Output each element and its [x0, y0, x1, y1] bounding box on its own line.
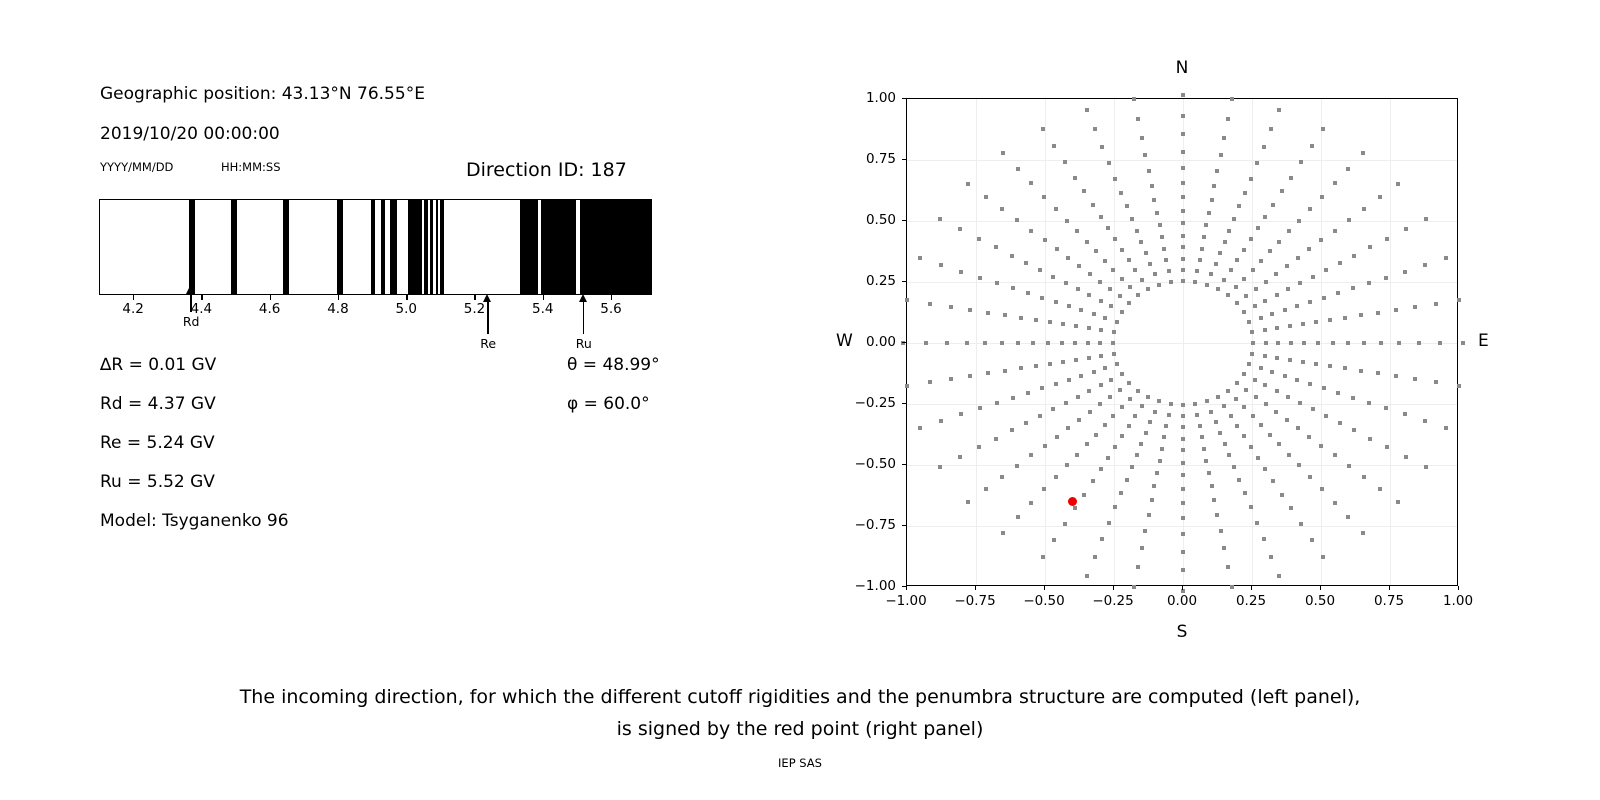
direction-point: [1229, 414, 1233, 418]
direction-point: [1043, 238, 1047, 242]
direction-point: [1319, 238, 1323, 242]
x-axis-tick: [906, 586, 907, 590]
direction-point: [1061, 322, 1065, 326]
direction-point: [1214, 420, 1218, 424]
direction-point: [986, 371, 990, 375]
direction-point: [1204, 459, 1208, 463]
direction-point: [1181, 568, 1185, 572]
direction-point: [1379, 341, 1383, 345]
direction-point: [1085, 240, 1089, 244]
direction-point: [1106, 456, 1110, 460]
direction-point: [1132, 97, 1136, 101]
direction-point: [966, 500, 970, 504]
direction-point: [1169, 280, 1173, 284]
direction-point: [1264, 280, 1268, 284]
x-axis-tick-label: −1.00: [885, 593, 926, 609]
direction-point: [1181, 425, 1185, 429]
direction-point: [1218, 431, 1222, 435]
direction-point: [959, 270, 963, 274]
x-axis-tick-label: 0.75: [1374, 593, 1404, 609]
direction-point: [1385, 237, 1389, 241]
direction-point: [1253, 378, 1257, 382]
direction-point: [1160, 447, 1164, 451]
direction-point: [1092, 312, 1096, 316]
direction-point: [1285, 418, 1289, 422]
direction-point: [1277, 574, 1281, 578]
direction-point: [1275, 356, 1279, 360]
direction-point: [1181, 114, 1185, 118]
direction-point: [1029, 229, 1033, 233]
direction-point: [1289, 506, 1293, 510]
direction-point: [1055, 247, 1059, 251]
direction-point: [1384, 406, 1388, 410]
direction-point: [1226, 565, 1230, 569]
direction-point: [1157, 399, 1161, 403]
direction-point: [1277, 240, 1281, 244]
direction-point: [1461, 341, 1465, 345]
direction-point: [1423, 419, 1427, 423]
direction-point: [1144, 431, 1148, 435]
direction-point: [1256, 226, 1260, 230]
direction-point: [1250, 352, 1254, 356]
direction-point: [1256, 456, 1260, 460]
direction-point: [1112, 352, 1116, 356]
direction-point: [1115, 320, 1119, 324]
direction-point: [1367, 401, 1371, 405]
direction-point: [1286, 287, 1290, 291]
direction-point: [1215, 169, 1219, 173]
direction-point: [995, 401, 999, 405]
direction-point: [1108, 287, 1112, 291]
x-axis-tick-label: −0.50: [1023, 593, 1064, 609]
selected-direction-marker: [1068, 497, 1077, 506]
direction-point: [1098, 280, 1102, 284]
direction-point: [1338, 421, 1342, 425]
direction-point: [966, 182, 970, 186]
gridline-vertical: [1390, 99, 1391, 585]
direction-point: [1181, 221, 1185, 225]
x-axis-tick-label: 1.00: [1443, 593, 1473, 609]
direction-point: [1242, 277, 1246, 281]
direction-point: [978, 276, 982, 280]
footer-credit: IEP SAS: [778, 756, 822, 770]
direction-point: [905, 384, 909, 388]
direction-point: [1092, 370, 1096, 374]
direction-point: [1438, 341, 1442, 345]
direction-point: [1287, 453, 1291, 457]
y-axis-tick: [902, 403, 906, 404]
direction-point: [1181, 461, 1185, 465]
direction-point: [1249, 445, 1253, 449]
y-axis-tick-label: −1.00: [844, 578, 896, 594]
direction-point: [1308, 475, 1312, 479]
direction-point: [1320, 487, 1324, 491]
y-axis-tick-label: −0.50: [844, 456, 896, 472]
direction-point: [1024, 421, 1028, 425]
compass-label-south: S: [1177, 622, 1188, 642]
direction-point: [1113, 177, 1117, 181]
direction-point: [1048, 320, 1052, 324]
direction-point: [1019, 316, 1023, 320]
direction-point: [939, 263, 943, 267]
direction-point: [1396, 182, 1400, 186]
y-axis-tick: [902, 159, 906, 160]
x-axis-tick-label: 0.25: [1236, 593, 1266, 609]
direction-point: [1368, 437, 1372, 441]
direction-point: [1214, 262, 1218, 266]
direction-point: [1200, 247, 1204, 251]
direction-point: [1308, 382, 1312, 386]
gridline-horizontal: [907, 526, 1457, 527]
y-axis-tick-label: 0.50: [844, 212, 896, 228]
direction-point: [1296, 426, 1300, 430]
y-axis-tick: [902, 281, 906, 282]
direction-point: [1108, 395, 1112, 399]
direction-point: [1181, 209, 1185, 213]
direction-point: [1082, 189, 1086, 193]
direction-point: [1264, 402, 1268, 406]
direction-point: [958, 455, 962, 459]
direction-point: [1205, 283, 1209, 287]
direction-point: [949, 305, 953, 309]
direction-point: [1336, 291, 1340, 295]
direction-point: [986, 311, 990, 315]
direction-point: [1162, 247, 1166, 251]
direction-point: [1093, 555, 1097, 559]
direction-point: [1237, 204, 1241, 208]
y-axis-tick: [902, 98, 906, 99]
direction-point: [1333, 501, 1337, 505]
direction-point: [1301, 360, 1305, 364]
direction-point: [1181, 268, 1185, 272]
direction-point: [1125, 204, 1129, 208]
direction-point: [1076, 287, 1080, 291]
direction-point: [1314, 320, 1318, 324]
direction-point: [1297, 219, 1301, 223]
direction-point: [1283, 308, 1287, 312]
direction-point: [1181, 532, 1185, 536]
direction-point: [1181, 166, 1185, 170]
direction-point: [1181, 448, 1185, 452]
direction-point: [1198, 258, 1202, 262]
direction-point: [1338, 261, 1342, 265]
direction-point: [1417, 341, 1421, 345]
direction-point: [1351, 286, 1355, 290]
direction-point: [1262, 145, 1266, 149]
direction-point: [1359, 369, 1363, 373]
direction-point: [977, 237, 981, 241]
direction-point: [1135, 229, 1139, 233]
direction-point: [1384, 276, 1388, 280]
direction-point: [1275, 326, 1279, 330]
direction-point: [1054, 475, 1058, 479]
direction-point: [928, 302, 932, 306]
direction-point: [1181, 437, 1185, 441]
direction-point: [1307, 247, 1311, 251]
direction-point: [1120, 434, 1124, 438]
direction-point: [1098, 341, 1102, 345]
direction-point: [1052, 144, 1056, 148]
y-axis-tick-label: 0.75: [844, 151, 896, 167]
direction-point: [1328, 364, 1332, 368]
direction-point: [1077, 264, 1081, 268]
direction-point: [1311, 275, 1315, 279]
direction-point: [1277, 108, 1281, 112]
direction-point: [1254, 395, 1258, 399]
direction-point: [1073, 506, 1077, 510]
direction-point: [1099, 354, 1103, 358]
direction-point: [1244, 294, 1248, 298]
direction-point: [1295, 378, 1299, 382]
direction-point: [1413, 377, 1417, 381]
direction-point: [1091, 203, 1095, 207]
direction-point: [1087, 389, 1091, 393]
direction-point: [1275, 293, 1279, 297]
direction-point: [1298, 281, 1302, 285]
direction-point: [1140, 278, 1144, 282]
direction-point: [1223, 240, 1227, 244]
direction-point: [1457, 298, 1461, 302]
direction-point: [1263, 354, 1267, 358]
direction-point: [1424, 217, 1428, 221]
gridline-horizontal: [907, 465, 1457, 466]
direction-point: [1169, 402, 1173, 406]
direction-point: [1263, 299, 1267, 303]
direction-point: [1150, 184, 1154, 188]
direction-point: [1296, 256, 1300, 260]
direction-point: [1120, 405, 1124, 409]
direction-point: [1359, 313, 1363, 317]
direction-point: [1210, 484, 1214, 488]
direction-point: [1103, 423, 1107, 427]
direction-point: [977, 445, 981, 449]
direction-point: [1207, 211, 1211, 215]
direction-point: [1066, 426, 1070, 430]
direction-point: [1302, 341, 1306, 345]
x-axis-tick-label: 0.50: [1305, 593, 1335, 609]
direction-point: [1088, 410, 1092, 414]
direction-point: [1271, 203, 1275, 207]
gridline-vertical: [976, 99, 977, 585]
direction-point: [1136, 293, 1140, 297]
direction-point: [1288, 324, 1292, 328]
direction-point: [1001, 531, 1005, 535]
direction-point: [1404, 227, 1408, 231]
direction-point: [1003, 369, 1007, 373]
direction-point: [1075, 229, 1079, 233]
direction-point: [1029, 453, 1033, 457]
direction-point: [1310, 538, 1314, 542]
x-axis-tick-label: −0.75: [954, 593, 995, 609]
direction-point: [1181, 501, 1185, 505]
direction-point: [1368, 245, 1372, 249]
compass-label-east: E: [1478, 331, 1489, 351]
direction-point: [1283, 374, 1287, 378]
direction-point: [1181, 150, 1185, 154]
compass-label-north: N: [1176, 58, 1189, 78]
direction-point: [1321, 127, 1325, 131]
direction-point: [1204, 223, 1208, 227]
direction-point: [1200, 435, 1204, 439]
direction-point: [1085, 108, 1089, 112]
direction-point: [1253, 304, 1257, 308]
direction-point: [1347, 218, 1351, 222]
direction-point: [994, 437, 998, 441]
direction-point: [1109, 378, 1113, 382]
direction-point: [1346, 341, 1350, 345]
direction-point: [1270, 312, 1274, 316]
direction-point: [1093, 127, 1097, 131]
direction-point: [1051, 407, 1055, 411]
direction-point: [1311, 407, 1315, 411]
direction-point: [1264, 341, 1268, 345]
direction-point: [1026, 291, 1030, 295]
direction-point: [949, 377, 953, 381]
direction-point: [1223, 442, 1227, 446]
direction-point: [1113, 237, 1117, 241]
direction-point: [1076, 395, 1080, 399]
direction-point: [1268, 433, 1272, 437]
direction-point: [1077, 418, 1081, 422]
direction-point: [1333, 453, 1337, 457]
direction-point: [1343, 366, 1347, 370]
direction-point: [1128, 397, 1132, 401]
direction-point: [1289, 176, 1293, 180]
direction-point: [1111, 414, 1115, 418]
direction-point: [978, 406, 982, 410]
direction-point: [1181, 403, 1185, 407]
direction-point: [1162, 435, 1166, 439]
direction-point: [1140, 546, 1144, 550]
direction-point: [1397, 341, 1401, 345]
y-axis-tick: [902, 464, 906, 465]
direction-point: [1041, 555, 1045, 559]
direction-point: [1109, 304, 1113, 308]
direction-point: [1107, 521, 1111, 525]
direction-point: [1088, 272, 1092, 276]
direction-point: [1146, 287, 1150, 291]
direction-point: [1061, 360, 1065, 364]
x-axis-tick-label: −0.25: [1092, 593, 1133, 609]
direction-point: [1346, 515, 1350, 519]
direction-point: [1063, 160, 1067, 164]
direction-point: [1232, 465, 1236, 469]
direction-point: [1328, 318, 1332, 322]
direction-point: [1316, 341, 1320, 345]
direction-point: [1073, 341, 1077, 345]
direction-point: [1230, 97, 1234, 101]
direction-point: [1015, 218, 1019, 222]
direction-point: [1249, 177, 1253, 181]
direction-point: [1143, 153, 1147, 157]
direction-point: [1098, 402, 1102, 406]
direction-point: [1247, 320, 1251, 324]
direction-point: [1082, 493, 1086, 497]
gridline-vertical: [1183, 99, 1184, 585]
direction-point: [1249, 237, 1253, 241]
direction-point: [1331, 341, 1335, 345]
direction-point: [1136, 565, 1140, 569]
direction-point: [1324, 414, 1328, 418]
direction-point: [1079, 374, 1083, 378]
direction-point: [1111, 268, 1115, 272]
direction-point: [1376, 311, 1380, 315]
direction-point: [1299, 160, 1303, 164]
direction-point: [938, 217, 942, 221]
direction-point: [1125, 478, 1129, 482]
direction-point: [1333, 181, 1337, 185]
direction-point: [1143, 529, 1147, 533]
direction-point: [1259, 423, 1263, 427]
direction-point: [1251, 268, 1255, 272]
direction-point: [939, 419, 943, 423]
direction-point: [1074, 358, 1078, 362]
direction-point: [1235, 424, 1239, 428]
direction-point: [1103, 316, 1107, 320]
direction-point: [1164, 258, 1168, 262]
direction-point: [1229, 268, 1233, 272]
direction-point: [1015, 464, 1019, 468]
direction-point: [1000, 207, 1004, 211]
direction-point: [1242, 310, 1246, 314]
direction-point: [1280, 189, 1284, 193]
direction-point: [1298, 401, 1302, 405]
direction-point: [1222, 136, 1226, 140]
direction-point: [1181, 279, 1185, 283]
direction-point: [1113, 505, 1117, 509]
direction-point: [1181, 257, 1185, 261]
direction-point: [1346, 167, 1350, 171]
direction-point: [1075, 453, 1079, 457]
direction-point: [1099, 299, 1103, 303]
direction-point: [1276, 341, 1280, 345]
direction-point: [1234, 397, 1238, 401]
direction-point: [1362, 341, 1366, 345]
direction-point: [1207, 471, 1211, 475]
direction-point: [1146, 395, 1150, 399]
sky-map-panel: N S W E −1.00−0.75−0.50−0.250.000.250.50…: [0, 0, 1600, 660]
direction-point: [1202, 447, 1206, 451]
direction-point: [1029, 181, 1033, 185]
direction-point: [1100, 145, 1104, 149]
direction-point: [1424, 465, 1428, 469]
direction-point: [1351, 396, 1355, 400]
direction-point: [1242, 434, 1246, 438]
direction-point: [1132, 585, 1136, 589]
direction-point: [1000, 341, 1004, 345]
direction-point: [1243, 491, 1247, 495]
direction-point: [1308, 300, 1312, 304]
y-axis-tick-label: −0.75: [844, 517, 896, 533]
direction-point: [1227, 453, 1231, 457]
direction-point: [1181, 181, 1185, 185]
direction-point: [1212, 184, 1216, 188]
direction-point: [1285, 264, 1289, 268]
direction-point: [1275, 389, 1279, 393]
direction-point: [1314, 362, 1318, 366]
direction-point: [1193, 402, 1197, 406]
direction-point: [1167, 269, 1171, 273]
direction-point: [1243, 191, 1247, 195]
direction-point: [1271, 479, 1275, 483]
direction-point: [1219, 153, 1223, 157]
direction-point: [1434, 302, 1438, 306]
y-axis-tick-label: 1.00: [844, 90, 896, 106]
direction-point: [1051, 275, 1055, 279]
x-axis-tick: [1389, 586, 1390, 590]
y-axis-tick: [902, 525, 906, 526]
x-axis-tick: [1251, 586, 1252, 590]
